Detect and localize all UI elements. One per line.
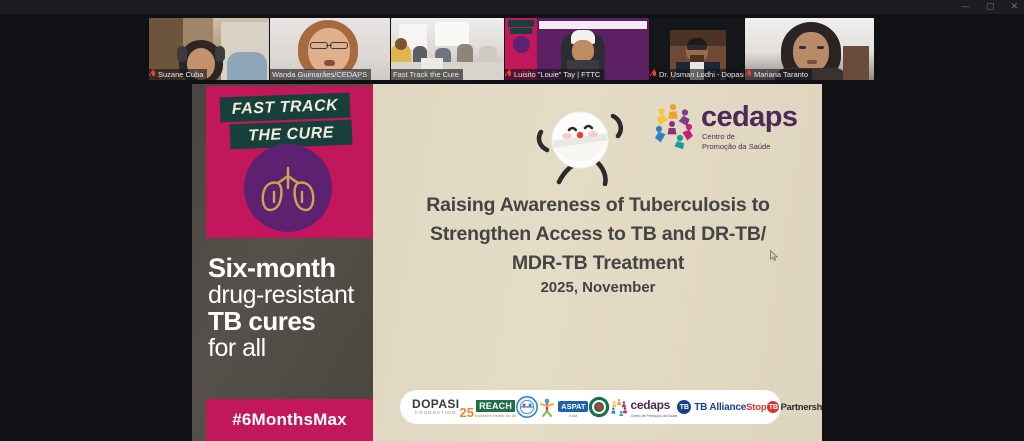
- mic-muted-icon: [151, 71, 156, 79]
- participant-name-label: Wanda Guimarães/CEDAPS: [270, 69, 371, 80]
- participant-filmstrip: Suzane Cuba Wanda Guimarães/CEDAPS: [0, 14, 1024, 84]
- slide-subtitle: 2025, November: [388, 279, 808, 296]
- participant-tile-mariana-taranto[interactable]: Mariana Taranto: [745, 18, 874, 80]
- participant-tile-suzane-cuba[interactable]: Suzane Cuba: [149, 18, 269, 80]
- close-icon[interactable]: ✕: [1010, 3, 1018, 12]
- mic-muted-icon: [507, 71, 512, 79]
- participant-name-label: Fast Track the Cure: [391, 69, 463, 80]
- cedaps-wordmark: cedaps: [701, 102, 797, 132]
- participant-name-label: Luisito "Louie" Tay | FTTC: [505, 69, 604, 80]
- partner-logo-green-seal: [588, 396, 610, 418]
- minimize-icon[interactable]: —: [961, 3, 970, 12]
- participant-name-label: Suzane Cuba: [149, 69, 207, 80]
- cedaps-logo: cedaps Centro de Promoção da Saúde: [649, 99, 814, 155]
- cedaps-tagline: Centro de Promoção da Saúde: [702, 132, 770, 151]
- partner-logo-tb-alliance: TB TB Alliance: [677, 400, 746, 414]
- stop-tb-badge: TB: [767, 401, 779, 413]
- lungs-icon: [250, 150, 326, 226]
- shared-screen-slide[interactable]: FAST TRACK THE CURE Six-month drug-resis…: [192, 84, 822, 441]
- slide-left-panel: FAST TRACK THE CURE Six-month drug-resis…: [192, 84, 373, 441]
- headline-line4: for all: [208, 335, 373, 361]
- cedaps-people-circle-icon: [649, 101, 697, 149]
- participant-tile-usman-lodhi[interactable]: Dr. Usman Lodhi - Dopasi Foun..: [650, 18, 744, 80]
- window-controls: — ▢ ✕: [961, 0, 1018, 14]
- partner-logo-aspat: ASPAT India: [538, 396, 588, 419]
- mouse-cursor-icon: [770, 250, 778, 261]
- mic-muted-icon: [747, 71, 752, 79]
- brand-banner-line1: FAST TRACK: [220, 93, 351, 123]
- partner-logo-reach: 25 REACH Equitable Health for All: [460, 396, 517, 419]
- participant-name-label: Mariana Taranto: [745, 69, 812, 80]
- partner-logo-stop-tb-partnership: Stop TB Partnership: [746, 401, 822, 413]
- tb-alliance-badge: TB: [677, 400, 691, 414]
- partner-logo-cedaps: cedaps Centro de Promoção da Saúde: [610, 396, 677, 418]
- green-seal-icon: [588, 396, 610, 418]
- aspat-figure-icon: [538, 397, 556, 417]
- participant-tile-luisito-tay[interactable]: Luisito "Louie" Tay | FTTC: [505, 18, 649, 80]
- slide-headline: Six-month drug-resistant TB cures for al…: [208, 254, 373, 361]
- headline-line2: drug-resistant: [208, 282, 373, 308]
- participant-tile-wanda-guimaraes[interactable]: Wanda Guimarães/CEDAPS: [270, 18, 390, 80]
- running-pill-character-icon: [525, 96, 635, 186]
- slide-title-line1: Raising Awareness of Tuberculosis to: [388, 191, 808, 220]
- participant-tile-fast-track-the-cure[interactable]: Fast Track the Cure: [391, 18, 504, 80]
- slide-title-line3: MDR-TB Treatment: [388, 249, 808, 278]
- cedaps-people-circle-icon-small: [610, 398, 628, 416]
- blue-seal-icon: [516, 396, 538, 418]
- fast-track-brand-block: FAST TRACK THE CURE: [206, 86, 373, 238]
- hashtag-banner: #6MonthsMax: [206, 399, 373, 441]
- partner-logo-dopasi: DOPASI FOUNDATION: [412, 398, 460, 416]
- participant-name-label: Dr. Usman Lodhi - Dopasi Foun..: [650, 69, 744, 80]
- slide-title: Raising Awareness of Tuberculosis to Str…: [388, 191, 808, 278]
- mic-muted-icon: [652, 71, 657, 79]
- maximize-icon[interactable]: ▢: [986, 3, 995, 12]
- slide-title-line2: Strengthen Access to TB and DR-TB/: [388, 220, 808, 249]
- partner-logo-strip: DOPASI FOUNDATION 25 REACH Equitable Hea…: [400, 390, 781, 424]
- headline-line1: Six-month: [208, 254, 373, 282]
- partner-logo-blue-seal: [516, 396, 538, 418]
- headline-line3: TB cures: [208, 308, 373, 335]
- window-titlebar: — ▢ ✕: [0, 0, 1024, 14]
